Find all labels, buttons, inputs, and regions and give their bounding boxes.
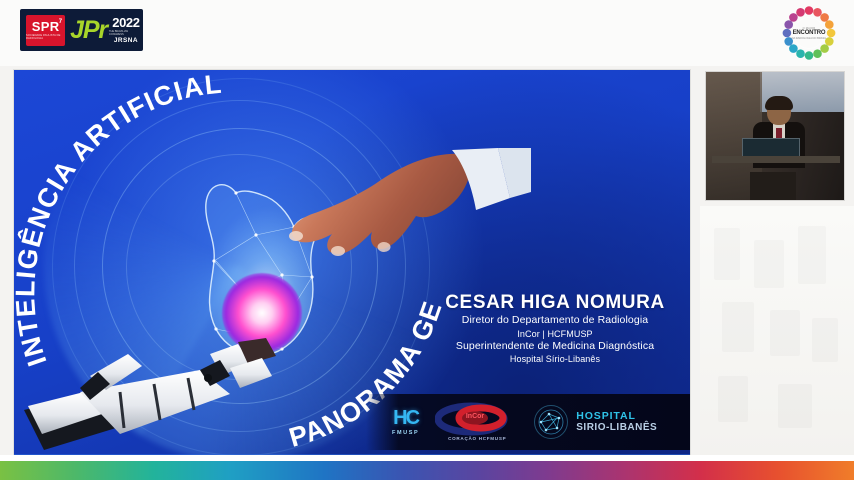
jpr-label: JPr xyxy=(70,18,107,43)
human-hand-graphic xyxy=(266,148,531,258)
panel-ghost-shape xyxy=(718,376,748,422)
speaker-role-line-4: Hospital Sírio-Libanês xyxy=(426,353,684,365)
encontro-circular-logo: O MAIOR ENCONTRO DA RADIOLOGIA DO BRASIL xyxy=(780,4,838,62)
slide-canvas[interactable]: INTELIGÊNCIA ARTIFICIAL PANORAMA GERAL C… xyxy=(14,70,690,456)
header-bar: 7 SPR SOCIEDADE PAULISTA DE RADIOLOGIA J… xyxy=(0,0,854,66)
hsl-line-2: SIRIO-LIBANÊS xyxy=(576,422,657,434)
hsl-line-1: HOSPITAL xyxy=(576,411,657,423)
presenter-hair xyxy=(765,96,793,110)
jpr-conference-logo: 7 SPR SOCIEDADE PAULISTA DE RADIOLOGIA J… xyxy=(20,9,143,51)
hospital-sirio-libanes-logo: HOSPITAL SIRIO-LIBANÊS xyxy=(533,404,657,440)
panel-ghost-shape xyxy=(770,310,800,356)
speaker-role-line-2: InCor | HCFMUSP xyxy=(426,328,684,340)
panel-ghost-shape xyxy=(714,228,740,280)
panel-ghost-shape xyxy=(754,240,784,288)
podium-column xyxy=(750,172,796,200)
speaker-role-line-1: Diretor do Departamento de Radiologia xyxy=(426,314,684,328)
svg-text:InCor: InCor xyxy=(466,413,485,420)
incor-logo: InCor CORAÇÃO HCFMUSP xyxy=(435,402,519,442)
panel-ghost-shape xyxy=(798,226,826,284)
right-side-panel xyxy=(700,206,854,456)
speaker-name: CESAR HIGA NOMURA xyxy=(426,292,684,314)
panel-ghost-shape xyxy=(812,318,838,362)
hc-logo-mark: HC xyxy=(393,409,418,428)
speaker-role-line-3: Superintendente de Medicina Diagnóstica xyxy=(426,340,684,354)
footer-rainbow-bar xyxy=(0,461,854,480)
hsl-text-block: HOSPITAL SIRIO-LIBANÊS xyxy=(576,411,657,434)
podium-surface xyxy=(712,156,840,163)
panel-ghost-shape xyxy=(778,384,812,428)
spr-label: SPR xyxy=(32,21,60,32)
robot-hand-graphic xyxy=(24,332,309,456)
presentation-viewer: 7 SPR SOCIEDADE PAULISTA DE RADIOLOGIA J… xyxy=(0,0,854,480)
presenter-camera-feed[interactable] xyxy=(706,72,844,200)
encontro-main-label: ENCONTRO xyxy=(786,30,832,36)
spr-sublabel: SOCIEDADE PAULISTA DE RADIOLOGIA xyxy=(26,34,65,40)
encontro-text-block: O MAIOR ENCONTRO DA RADIOLOGIA DO BRASIL xyxy=(786,27,832,40)
jrsna-label: JRSNA xyxy=(114,37,138,44)
jpr-year: 2022 xyxy=(112,16,139,29)
jpr-year-tagline: THE BRAZILIAN CONGRESS xyxy=(109,30,143,36)
spr-logo-badge: 7 SPR SOCIEDADE PAULISTA DE RADIOLOGIA xyxy=(26,15,65,46)
hsl-globe-icon xyxy=(533,404,569,440)
incor-logo-sub: CORAÇÃO HCFMUSP xyxy=(435,436,519,441)
institution-logo-bar: HC FMUSP InCor CORAÇÃO HCFMUSP xyxy=(366,394,690,450)
hc-fmusp-logo: HC FMUSP xyxy=(392,409,419,436)
jpr-year-block: 2022 THE BRAZILIAN CONGRESS JRSNA xyxy=(109,16,143,44)
spr-superscript: 7 xyxy=(59,19,62,25)
hc-logo-sub: FMUSP xyxy=(392,430,419,436)
encontro-sub-label: DA RADIOLOGIA DO BRASIL xyxy=(786,36,832,39)
panel-ghost-shape xyxy=(722,302,754,352)
speaker-info-block: CESAR HIGA NOMURA Diretor do Departament… xyxy=(426,292,684,365)
